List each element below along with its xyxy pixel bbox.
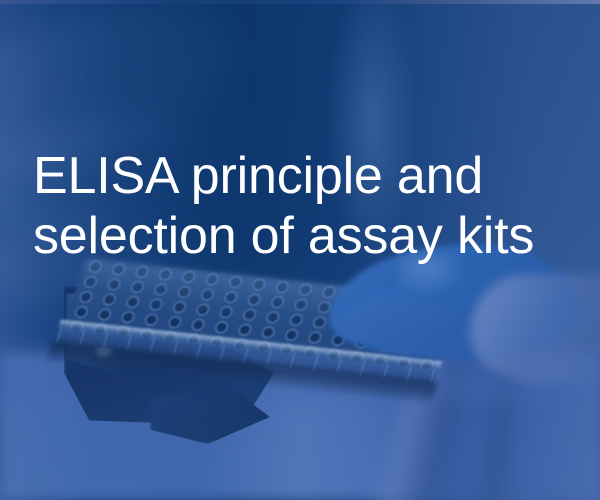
banner-title: ELISA principle and selection of assay k… — [33, 146, 573, 266]
gloved-hand-cuff — [470, 274, 600, 384]
top-edge-strip — [0, 0, 600, 4]
elisa-article-banner: ELISA principle and selection of assay k… — [0, 0, 600, 500]
